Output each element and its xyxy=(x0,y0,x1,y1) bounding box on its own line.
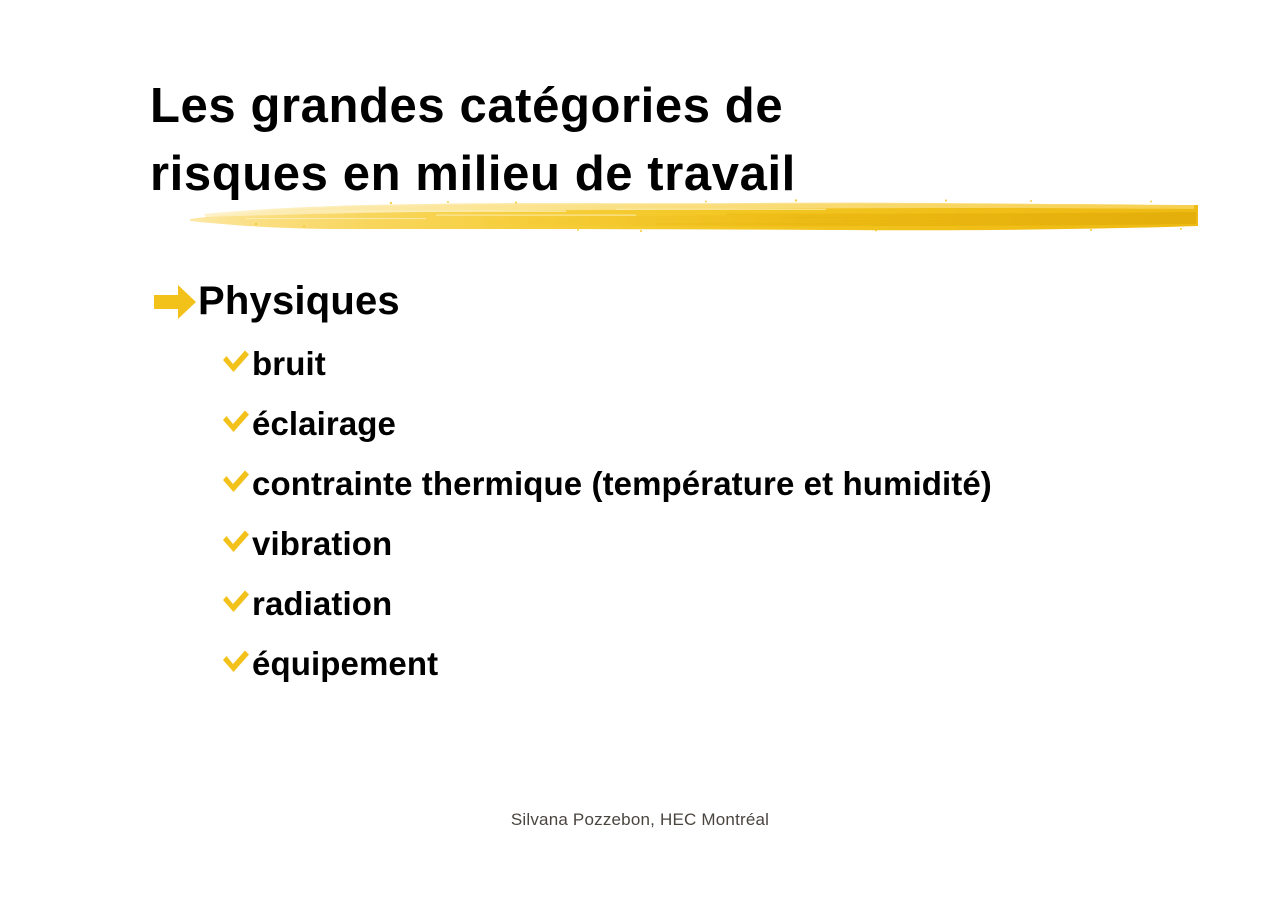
bullet-level1: Physiques xyxy=(152,276,1212,326)
list-item-label: éclairage xyxy=(252,398,396,450)
arrow-right-icon xyxy=(152,280,198,324)
list-item: radiation xyxy=(220,578,1212,630)
check-icon xyxy=(220,409,252,439)
list-item: contrainte thermique (température et hum… xyxy=(220,458,1212,510)
list-item-label: radiation xyxy=(252,578,392,630)
title-block: Les grandes catégories de risques en mil… xyxy=(150,72,1150,208)
check-icon xyxy=(220,529,252,559)
list-item: bruit xyxy=(220,338,1212,390)
page-title: Les grandes catégories de risques en mil… xyxy=(150,72,1150,208)
bullet-level1-label: Physiques xyxy=(198,276,400,326)
slide-footer: Silvana Pozzebon, HEC Montréal xyxy=(0,810,1280,830)
list-item: éclairage xyxy=(220,398,1212,450)
list-item-label: contrainte thermique (température et hum… xyxy=(252,458,992,510)
list-item-label: équipement xyxy=(252,638,438,690)
check-icon xyxy=(220,349,252,379)
check-icon xyxy=(220,589,252,619)
check-icon xyxy=(220,649,252,679)
slide-canvas: Les grandes catégories de risques en mil… xyxy=(0,0,1280,905)
content-body: Physiques bruit éclairage xyxy=(152,276,1212,698)
list-item-label: bruit xyxy=(252,338,326,390)
check-icon xyxy=(220,469,252,499)
list-item: équipement xyxy=(220,638,1212,690)
bullet-level2-list: bruit éclairage contrainte thermique (te… xyxy=(152,338,1212,690)
list-item: vibration xyxy=(220,518,1212,570)
list-item-label: vibration xyxy=(252,518,392,570)
